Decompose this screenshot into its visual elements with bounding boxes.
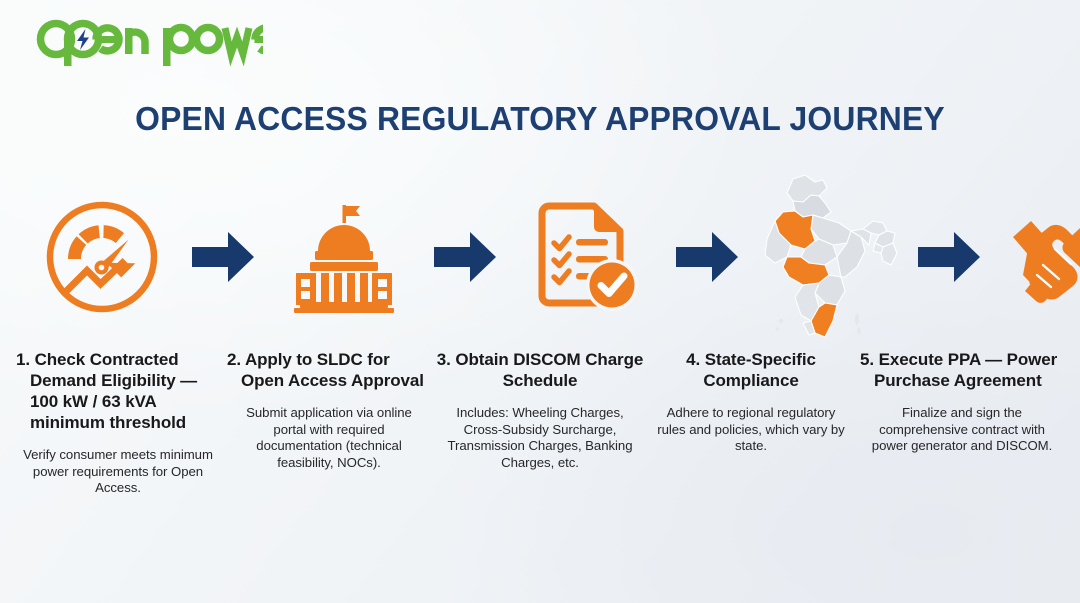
process-steps-text-row: 1. Check Contracted Demand Eligibility —… — [14, 349, 1066, 497]
arrow-right-icon — [918, 232, 980, 282]
government-building-icon — [288, 201, 400, 313]
step-5-icon-cell — [982, 172, 1080, 342]
step-4-column: 4. State-Specific Compliance Adhere to r… — [647, 349, 855, 455]
document-checklist-approved-icon — [532, 201, 640, 313]
step-5-description: Finalize and sign the comprehensive cont… — [858, 405, 1066, 455]
arrow-right-icon — [676, 232, 738, 282]
arrow-right-icon — [434, 232, 496, 282]
step-3-heading: 3. Obtain DISCOM Charge Schedule — [436, 349, 644, 391]
open-power-logo-icon — [33, 17, 263, 67]
step-2-column: 2. Apply to SLDC for Open Access Approva… — [225, 349, 433, 471]
step-4-description: Adhere to regional regulatory rules and … — [647, 405, 855, 455]
lightning-bolt-icon — [77, 29, 89, 50]
flow-arrow-4 — [916, 227, 982, 287]
step-1-column: 1. Check Contracted Demand Eligibility —… — [14, 349, 222, 497]
brand-logo — [33, 17, 263, 67]
speedometer-gauge-growth-icon — [44, 199, 160, 315]
step-2-heading: 2. Apply to SLDC for Open Access Approva… — [239, 349, 433, 391]
flow-arrow-2 — [432, 227, 498, 287]
step-5-heading: 5. Execute PPA — Power Purchase Agreemen… — [872, 349, 1066, 391]
arrow-right-icon — [192, 232, 254, 282]
step-3-icon-cell — [498, 172, 674, 342]
step-2-description: Submit application via online portal wit… — [225, 405, 433, 471]
handshake-icon — [1009, 209, 1080, 305]
infographic-canvas: OPEN ACCESS REGULATORY APPROVAL JOURNEY — [0, 0, 1080, 603]
step-3-description: Includes: Wheeling Charges, Cross-Subsid… — [436, 405, 644, 471]
page-title: OPEN ACCESS REGULATORY APPROVAL JOURNEY — [19, 99, 1061, 139]
step-1-description: Verify consumer meets minimum power requ… — [14, 447, 222, 497]
step-4-icon-cell — [740, 172, 916, 342]
step-2-icon-cell — [256, 172, 432, 342]
flow-arrow-3 — [674, 227, 740, 287]
step-1-icon-cell — [14, 172, 190, 342]
step-5-column: 5. Execute PPA — Power Purchase Agreemen… — [858, 349, 1066, 455]
flow-arrow-1 — [190, 227, 256, 287]
step-3-column: 3. Obtain DISCOM Charge Schedule Include… — [436, 349, 644, 471]
india-map-states-icon — [753, 171, 903, 343]
step-4-heading: 4. State-Specific Compliance — [647, 349, 855, 391]
process-flow-row — [14, 172, 1066, 342]
step-1-heading: 1. Check Contracted Demand Eligibility —… — [28, 349, 222, 433]
